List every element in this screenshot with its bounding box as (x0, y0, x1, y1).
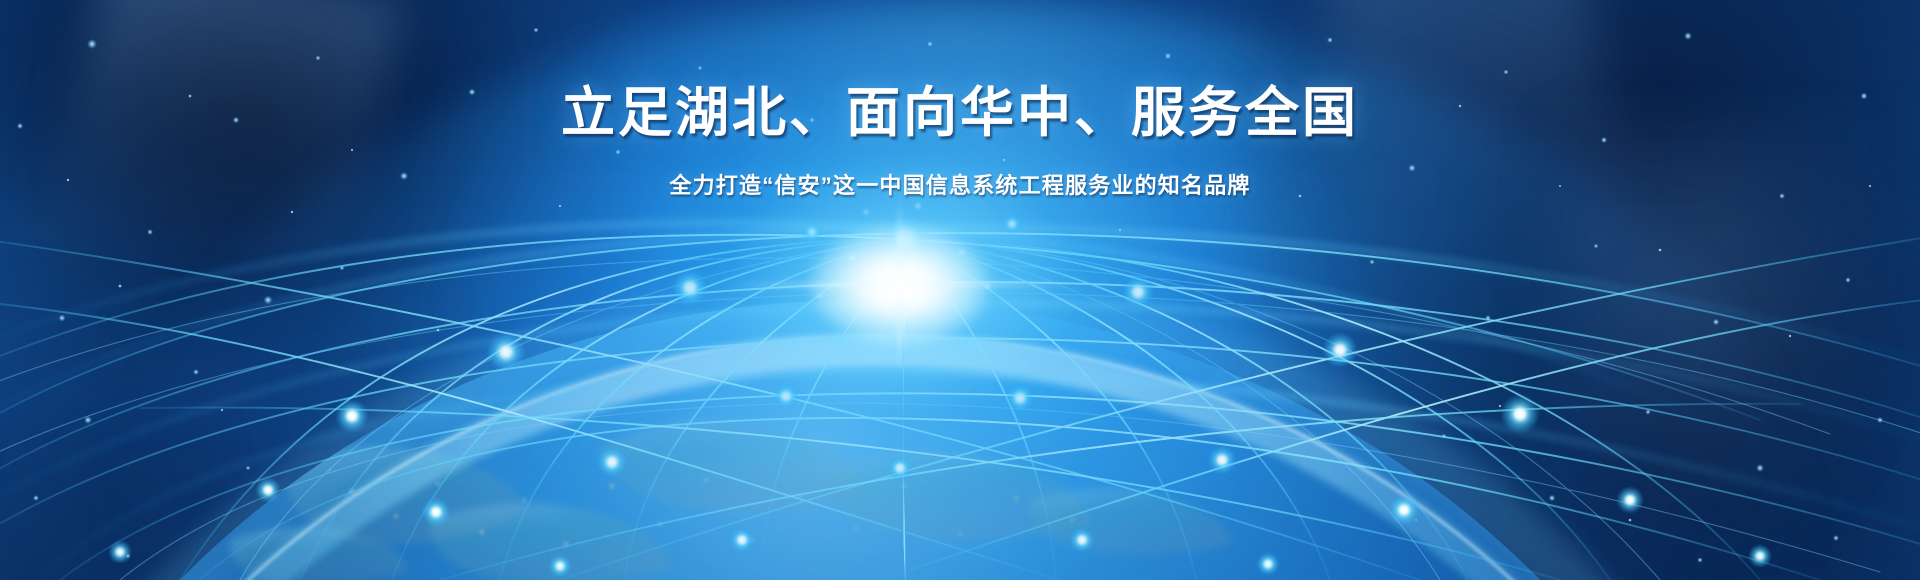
banner-subheadline: 全力打造“信安”这一中国信息系统工程服务业的知名品牌 (0, 168, 1920, 200)
hero-banner: 立足湖北、面向华中、服务全国 全力打造“信安”这一中国信息系统工程服务业的知名品… (0, 0, 1920, 580)
banner-copy: 立足湖北、面向华中、服务全国 全力打造“信安”这一中国信息系统工程服务业的知名品… (0, 84, 1920, 200)
banner-headline: 立足湖北、面向华中、服务全国 (0, 84, 1920, 142)
core-flare-vertical (898, 195, 902, 375)
